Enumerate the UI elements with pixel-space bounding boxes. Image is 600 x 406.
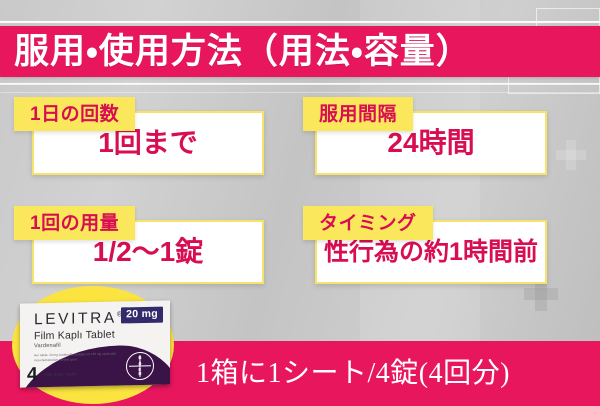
info-card-value: 1/2〜1錠	[93, 238, 204, 266]
info-card-value: 性行為の約1時間前	[324, 240, 538, 265]
pack-strength-badge: 20 mg	[121, 307, 163, 323]
info-card-tab: 1回の用量	[14, 206, 135, 240]
pack-count-note: Film Kaplı Tablet	[44, 372, 77, 377]
info-card-tab: タイミング	[303, 206, 433, 240]
info-card-amount-per-dose: 1/2〜1錠 1回の用量	[14, 206, 264, 284]
page-title: 服用・使用方法（用法・容量）	[14, 34, 472, 69]
info-card-timing: 性行為の約1時間前 タイミング	[297, 206, 547, 284]
title-rule-bottom	[0, 83, 600, 85]
pack-brand-name: LEVITRA®	[34, 310, 122, 327]
title-rule-top	[0, 21, 600, 23]
info-card-tab-label: 1回の用量	[30, 214, 119, 233]
background-plus	[556, 150, 586, 160]
background-plus	[524, 288, 558, 300]
bayer-logo-letter: R	[138, 372, 141, 376]
background-plus	[566, 140, 576, 170]
info-card-tab: 1日の回数	[14, 97, 135, 131]
info-card-tab: 服用間隔	[303, 97, 413, 131]
pack-tablet-count: 4	[27, 365, 38, 384]
product-image: LEVITRA® 20 mg Film Kaplı Tablet Vardena…	[2, 284, 190, 406]
info-card-value: 24時間	[387, 129, 474, 157]
title-band: 服用・使用方法（用法・容量）	[0, 26, 600, 77]
pack-active-ingredient: Vardenafil	[34, 344, 61, 350]
info-card-value: 1回まで	[98, 129, 198, 157]
info-card-doses-per-day: 1回まで 1日の回数	[14, 97, 264, 175]
info-card-tab-label: タイミング	[319, 214, 417, 233]
background-line	[0, 92, 600, 93]
infographic-canvas: 服用・使用方法（用法・容量） 1回まで 1日の回数 24時間 服用間隔 1/2〜…	[0, 0, 600, 406]
pack-brand-text: LEVITRA	[34, 310, 117, 329]
info-card-interval: 24時間 服用間隔	[297, 97, 547, 175]
info-card-tab-label: 服用間隔	[319, 105, 397, 124]
bottom-banner-text: 1箱に1シート/4錠(4回分)	[196, 341, 510, 406]
pack-dosage-form: Film Kaplı Tablet	[34, 330, 115, 342]
product-pack: LEVITRA® 20 mg Film Kaplı Tablet Vardena…	[20, 300, 170, 387]
info-card-tab-label: 1日の回数	[30, 105, 119, 124]
